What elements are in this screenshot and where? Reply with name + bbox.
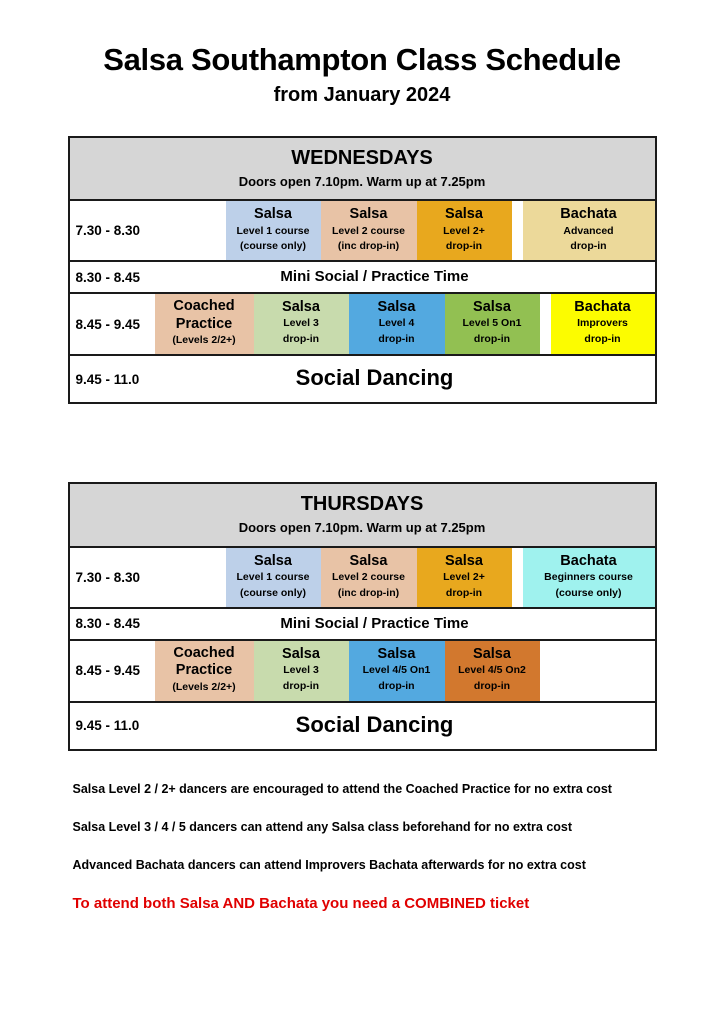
thursday-doors-note: Doors open 7.10pm. Warm up at 7.25pm <box>70 520 655 537</box>
class-title: Bachata <box>553 298 653 316</box>
class-booking: drop-in <box>525 239 653 255</box>
class-title: Salsa <box>351 298 443 316</box>
practice-levels: (Levels 2/2+) <box>157 333 252 349</box>
class-level: Level 1 course <box>228 224 319 240</box>
class-title: Salsa <box>323 205 415 223</box>
class-cell[interactable]: Salsa Level 2+ drop-in <box>417 548 512 607</box>
footnote: Advanced Bachata dancers can attend Impr… <box>73 857 657 874</box>
empty-spacer-cell <box>155 548 226 607</box>
class-level: Level 4/5 On1 <box>351 663 443 679</box>
page-title: Salsa Southampton Class Schedule <box>0 44 724 77</box>
table-row: 7.30 - 8.30 Salsa Level 1 course (course… <box>70 201 655 262</box>
practice-title-line2: Practice <box>157 662 252 680</box>
class-title: Bachata <box>525 205 653 223</box>
class-title: Salsa <box>419 205 510 223</box>
class-booking: (inc drop-in) <box>323 586 415 602</box>
class-title: Bachata <box>525 552 653 570</box>
page-subtitle: from January 2024 <box>0 85 724 106</box>
class-booking: (course only) <box>228 586 319 602</box>
combined-ticket-notice: To attend both Salsa AND Bachata you nee… <box>73 894 657 914</box>
social-dancing-label: Social Dancing <box>155 356 655 402</box>
thursday-day-header: THURSDAYS Doors open 7.10pm. Warm up at … <box>70 484 655 548</box>
class-cell[interactable]: Salsa Level 5 On1 drop-in <box>445 294 540 354</box>
class-title: Salsa <box>228 205 319 223</box>
empty-class-cell <box>551 641 655 701</box>
column-separator <box>540 294 551 354</box>
practice-levels: (Levels 2/2+) <box>157 680 252 696</box>
time-label: 8.45 - 9.45 <box>70 641 155 701</box>
class-level: Level 2 course <box>323 224 415 240</box>
time-label: 9.45 - 11.0 <box>70 356 155 402</box>
class-booking: (course only) <box>525 586 653 602</box>
class-level: Level 2 course <box>323 570 415 586</box>
wednesday-day-header: WEDNESDAYS Doors open 7.10pm. Warm up at… <box>70 138 655 202</box>
class-booking: drop-in <box>256 679 347 695</box>
time-label: 7.30 - 8.30 <box>70 548 155 607</box>
column-separator <box>540 641 551 701</box>
practice-title-line2: Practice <box>157 316 252 334</box>
class-title: Salsa <box>351 645 443 663</box>
class-cell[interactable]: Salsa Level 4/5 On2 drop-in <box>445 641 540 701</box>
class-level: Level 2+ <box>419 570 510 586</box>
class-cell[interactable]: Salsa Level 2 course (inc drop-in) <box>321 548 417 607</box>
class-cell[interactable]: Salsa Level 1 course (course only) <box>226 548 321 607</box>
thursday-schedule-table: THURSDAYS Doors open 7.10pm. Warm up at … <box>68 482 657 751</box>
class-booking: drop-in <box>447 332 538 348</box>
class-booking: drop-in <box>447 679 538 695</box>
empty-spacer-cell <box>155 201 226 260</box>
column-separator <box>512 201 523 260</box>
wednesday-doors-note: Doors open 7.10pm. Warm up at 7.25pm <box>70 174 655 191</box>
class-cell[interactable]: Salsa Level 1 course (course only) <box>226 201 321 260</box>
social-dancing-label: Social Dancing <box>155 703 655 749</box>
class-level: Improvers <box>553 316 653 332</box>
table-row: 7.30 - 8.30 Salsa Level 1 course (course… <box>70 548 655 609</box>
class-booking: drop-in <box>419 586 510 602</box>
class-title: Salsa <box>256 645 347 663</box>
class-booking: drop-in <box>351 332 443 348</box>
thursday-day-name: THURSDAYS <box>70 491 655 517</box>
class-title: Salsa <box>256 298 347 316</box>
table-row: 8.30 - 8.45 Mini Social / Practice Time <box>70 262 655 294</box>
time-label: 9.45 - 11.0 <box>70 703 155 749</box>
class-title: Salsa <box>323 552 415 570</box>
class-cell[interactable]: Salsa Level 2 course (inc drop-in) <box>321 201 417 260</box>
class-booking: drop-in <box>553 332 653 348</box>
table-row: 8.45 - 9.45 Coached Practice (Levels 2/2… <box>70 294 655 356</box>
class-level: Level 3 <box>256 663 347 679</box>
class-title: Salsa <box>228 552 319 570</box>
class-booking: (course only) <box>228 239 319 255</box>
class-cell[interactable]: Bachata Beginners course (course only) <box>523 548 655 607</box>
class-level: Level 4/5 On2 <box>447 663 538 679</box>
class-cell[interactable]: Bachata Improvers drop-in <box>551 294 655 354</box>
class-level: Level 3 <box>256 316 347 332</box>
wednesday-day-name: WEDNESDAYS <box>70 145 655 171</box>
class-booking: drop-in <box>419 239 510 255</box>
class-booking: drop-in <box>256 332 347 348</box>
table-row: 9.45 - 11.0 Social Dancing <box>70 703 655 749</box>
class-title: Salsa <box>419 552 510 570</box>
document-header: Salsa Southampton Class Schedule from Ja… <box>0 0 724 106</box>
footnotes: Salsa Level 2 / 2+ dancers are encourage… <box>68 781 657 915</box>
coached-practice-cell[interactable]: Coached Practice (Levels 2/2+) <box>155 294 254 354</box>
class-booking: drop-in <box>351 679 443 695</box>
practice-title-line1: Coached <box>157 298 252 316</box>
class-cell[interactable]: Salsa Level 3 drop-in <box>254 294 349 354</box>
footnote: Salsa Level 2 / 2+ dancers are encourage… <box>73 781 657 798</box>
coached-practice-cell[interactable]: Coached Practice (Levels 2/2+) <box>155 641 254 701</box>
table-row: 8.45 - 9.45 Coached Practice (Levels 2/2… <box>70 641 655 703</box>
class-cell[interactable]: Salsa Level 2+ drop-in <box>417 201 512 260</box>
time-label: 8.30 - 8.45 <box>70 609 155 639</box>
class-title: Salsa <box>447 645 538 663</box>
mini-social-label: Mini Social / Practice Time <box>155 609 655 639</box>
class-cell[interactable]: Salsa Level 3 drop-in <box>254 641 349 701</box>
class-level: Level 1 course <box>228 570 319 586</box>
class-cell[interactable]: Bachata Advanced drop-in <box>523 201 655 260</box>
class-level: Advanced <box>525 224 653 240</box>
mini-social-label: Mini Social / Practice Time <box>155 262 655 292</box>
time-label: 7.30 - 8.30 <box>70 201 155 260</box>
footnote: Salsa Level 3 / 4 / 5 dancers can attend… <box>73 819 657 836</box>
class-title: Salsa <box>447 298 538 316</box>
class-level: Level 4 <box>351 316 443 332</box>
class-cell[interactable]: Salsa Level 4/5 On1 drop-in <box>349 641 445 701</box>
practice-title-line1: Coached <box>157 645 252 663</box>
table-row: 9.45 - 11.0 Social Dancing <box>70 356 655 402</box>
class-level: Level 5 On1 <box>447 316 538 332</box>
class-level: Beginners course <box>525 570 653 586</box>
class-cell[interactable]: Salsa Level 4 drop-in <box>349 294 445 354</box>
class-level: Level 2+ <box>419 224 510 240</box>
time-label: 8.45 - 9.45 <box>70 294 155 354</box>
column-separator <box>512 548 523 607</box>
table-row: 8.30 - 8.45 Mini Social / Practice Time <box>70 609 655 641</box>
wednesday-schedule-table: WEDNESDAYS Doors open 7.10pm. Warm up at… <box>68 136 657 405</box>
class-booking: (inc drop-in) <box>323 239 415 255</box>
time-label: 8.30 - 8.45 <box>70 262 155 292</box>
